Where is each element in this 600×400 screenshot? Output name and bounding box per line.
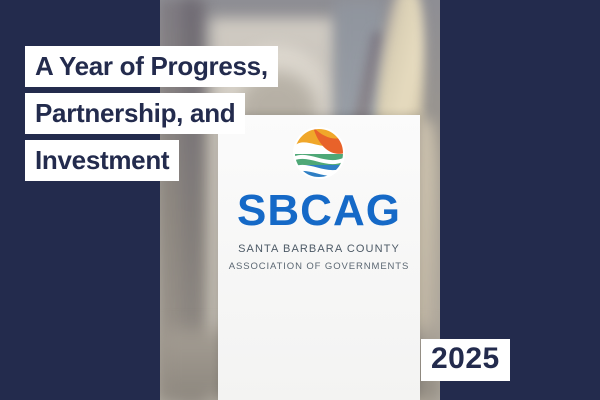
- slide-title: A Year of Progress, Partnership, and Inv…: [25, 46, 278, 187]
- sbcag-sun-hills-wave-logo: [293, 127, 345, 179]
- podium-acronym: SBCAG: [218, 189, 420, 233]
- slide-canvas: SBCAG SANTA BARBARA COUNTY ASSOCIATION O…: [0, 0, 600, 400]
- year-badge: 2025: [421, 339, 510, 381]
- title-line-2: Partnership, and: [25, 93, 245, 134]
- podium-subtitle-line2: ASSOCIATION OF GOVERNMENTS: [218, 261, 420, 272]
- title-line-3: Investment: [25, 140, 179, 181]
- title-line-1: A Year of Progress,: [25, 46, 278, 87]
- podium-subtitle-line1: SANTA BARBARA COUNTY: [218, 243, 420, 255]
